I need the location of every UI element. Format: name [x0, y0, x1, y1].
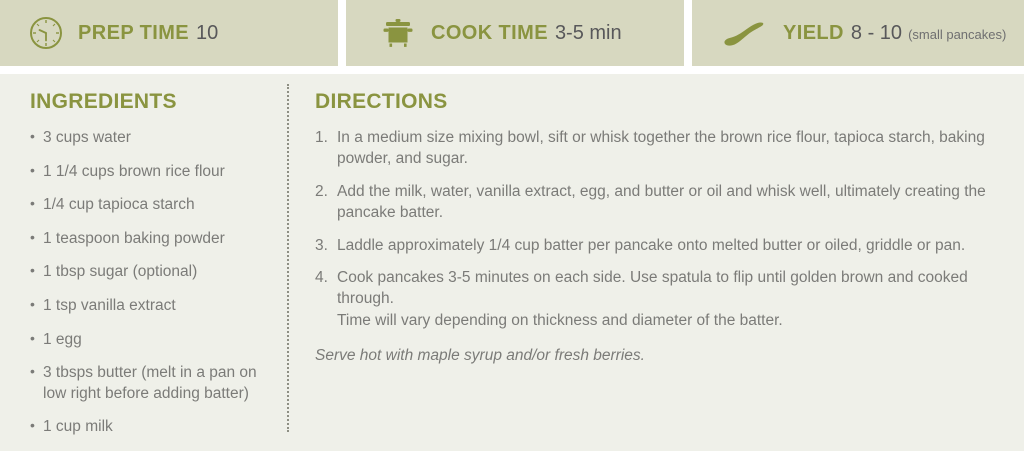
list-item: Cook pancakes 3-5 minutes on each side. … — [315, 267, 1005, 331]
list-item: Add the milk, water, vanilla extract, eg… — [315, 181, 1005, 224]
step-text: Add the milk, water, vanilla extract, eg… — [337, 183, 986, 221]
clock-icon — [28, 15, 64, 51]
list-item: 3 tbsps butter (melt in a pan on low rig… — [30, 363, 275, 404]
cook-time-value: 3-5 min — [555, 22, 622, 45]
cook-time-panel: COOK TIME 3-5 min — [346, 0, 684, 66]
yield-value: 8 - 10 — [851, 22, 902, 45]
directions-list: In a medium size mixing bowl, sift or wh… — [315, 127, 1005, 331]
ingredients-column: INGREDIENTS 3 cups water 1 1/4 cups brow… — [30, 74, 275, 451]
list-item: In a medium size mixing bowl, sift or wh… — [315, 127, 1005, 170]
directions-column: DIRECTIONS In a medium size mixing bowl,… — [315, 74, 1005, 366]
serving-note: Serve hot with maple syrup and/or fresh … — [315, 345, 1005, 366]
yield-panel: YIELD 8 - 10 (small pancakes) — [692, 0, 1024, 66]
list-item: 3 cups water — [30, 128, 275, 149]
spoon-icon — [719, 16, 769, 50]
ingredients-title: INGREDIENTS — [30, 90, 275, 114]
list-item: 1 tsp vanilla extract — [30, 296, 275, 317]
prep-time-panel: PREP TIME 10 — [0, 0, 338, 66]
ingredients-list: 3 cups water 1 1/4 cups brown rice flour… — [30, 128, 275, 438]
step-text: Cook pancakes 3-5 minutes on each side. … — [337, 269, 968, 307]
yield-text: YIELD 8 - 10 (small pancakes) — [783, 22, 1006, 45]
step-text: In a medium size mixing bowl, sift or wh… — [337, 129, 985, 167]
list-item: 1 cup milk — [30, 417, 275, 438]
prep-time-text: PREP TIME 10 — [78, 22, 218, 45]
list-item: 1 1/4 cups brown rice flour — [30, 162, 275, 183]
prep-time-value: 10 — [196, 22, 218, 45]
cooking-pot-icon — [379, 15, 417, 51]
list-item: 1 egg — [30, 330, 275, 351]
list-item: Laddle approximately 1/4 cup batter per … — [315, 235, 1005, 256]
list-item: 1 teaspoon baking powder — [30, 229, 275, 250]
column-divider — [287, 84, 289, 432]
cook-time-label: COOK TIME — [431, 22, 548, 45]
cook-time-text: COOK TIME 3-5 min — [431, 22, 622, 45]
prep-time-label: PREP TIME — [78, 22, 189, 45]
recipe-body: INGREDIENTS 3 cups water 1 1/4 cups brow… — [0, 74, 1024, 451]
directions-title: DIRECTIONS — [315, 90, 1005, 114]
list-item: 1/4 cup tapioca starch — [30, 195, 275, 216]
step-extra-text: Time will vary depending on thickness an… — [337, 310, 1005, 331]
recipe-card: PREP TIME 10 COOK TIME 3-5 min — [0, 0, 1024, 451]
step-text: Laddle approximately 1/4 cup batter per … — [337, 237, 965, 254]
recipe-meta-header: PREP TIME 10 COOK TIME 3-5 min — [0, 0, 1024, 66]
yield-note: (small pancakes) — [908, 27, 1006, 42]
list-item: 1 tbsp sugar (optional) — [30, 262, 275, 283]
yield-label: YIELD — [783, 22, 844, 45]
